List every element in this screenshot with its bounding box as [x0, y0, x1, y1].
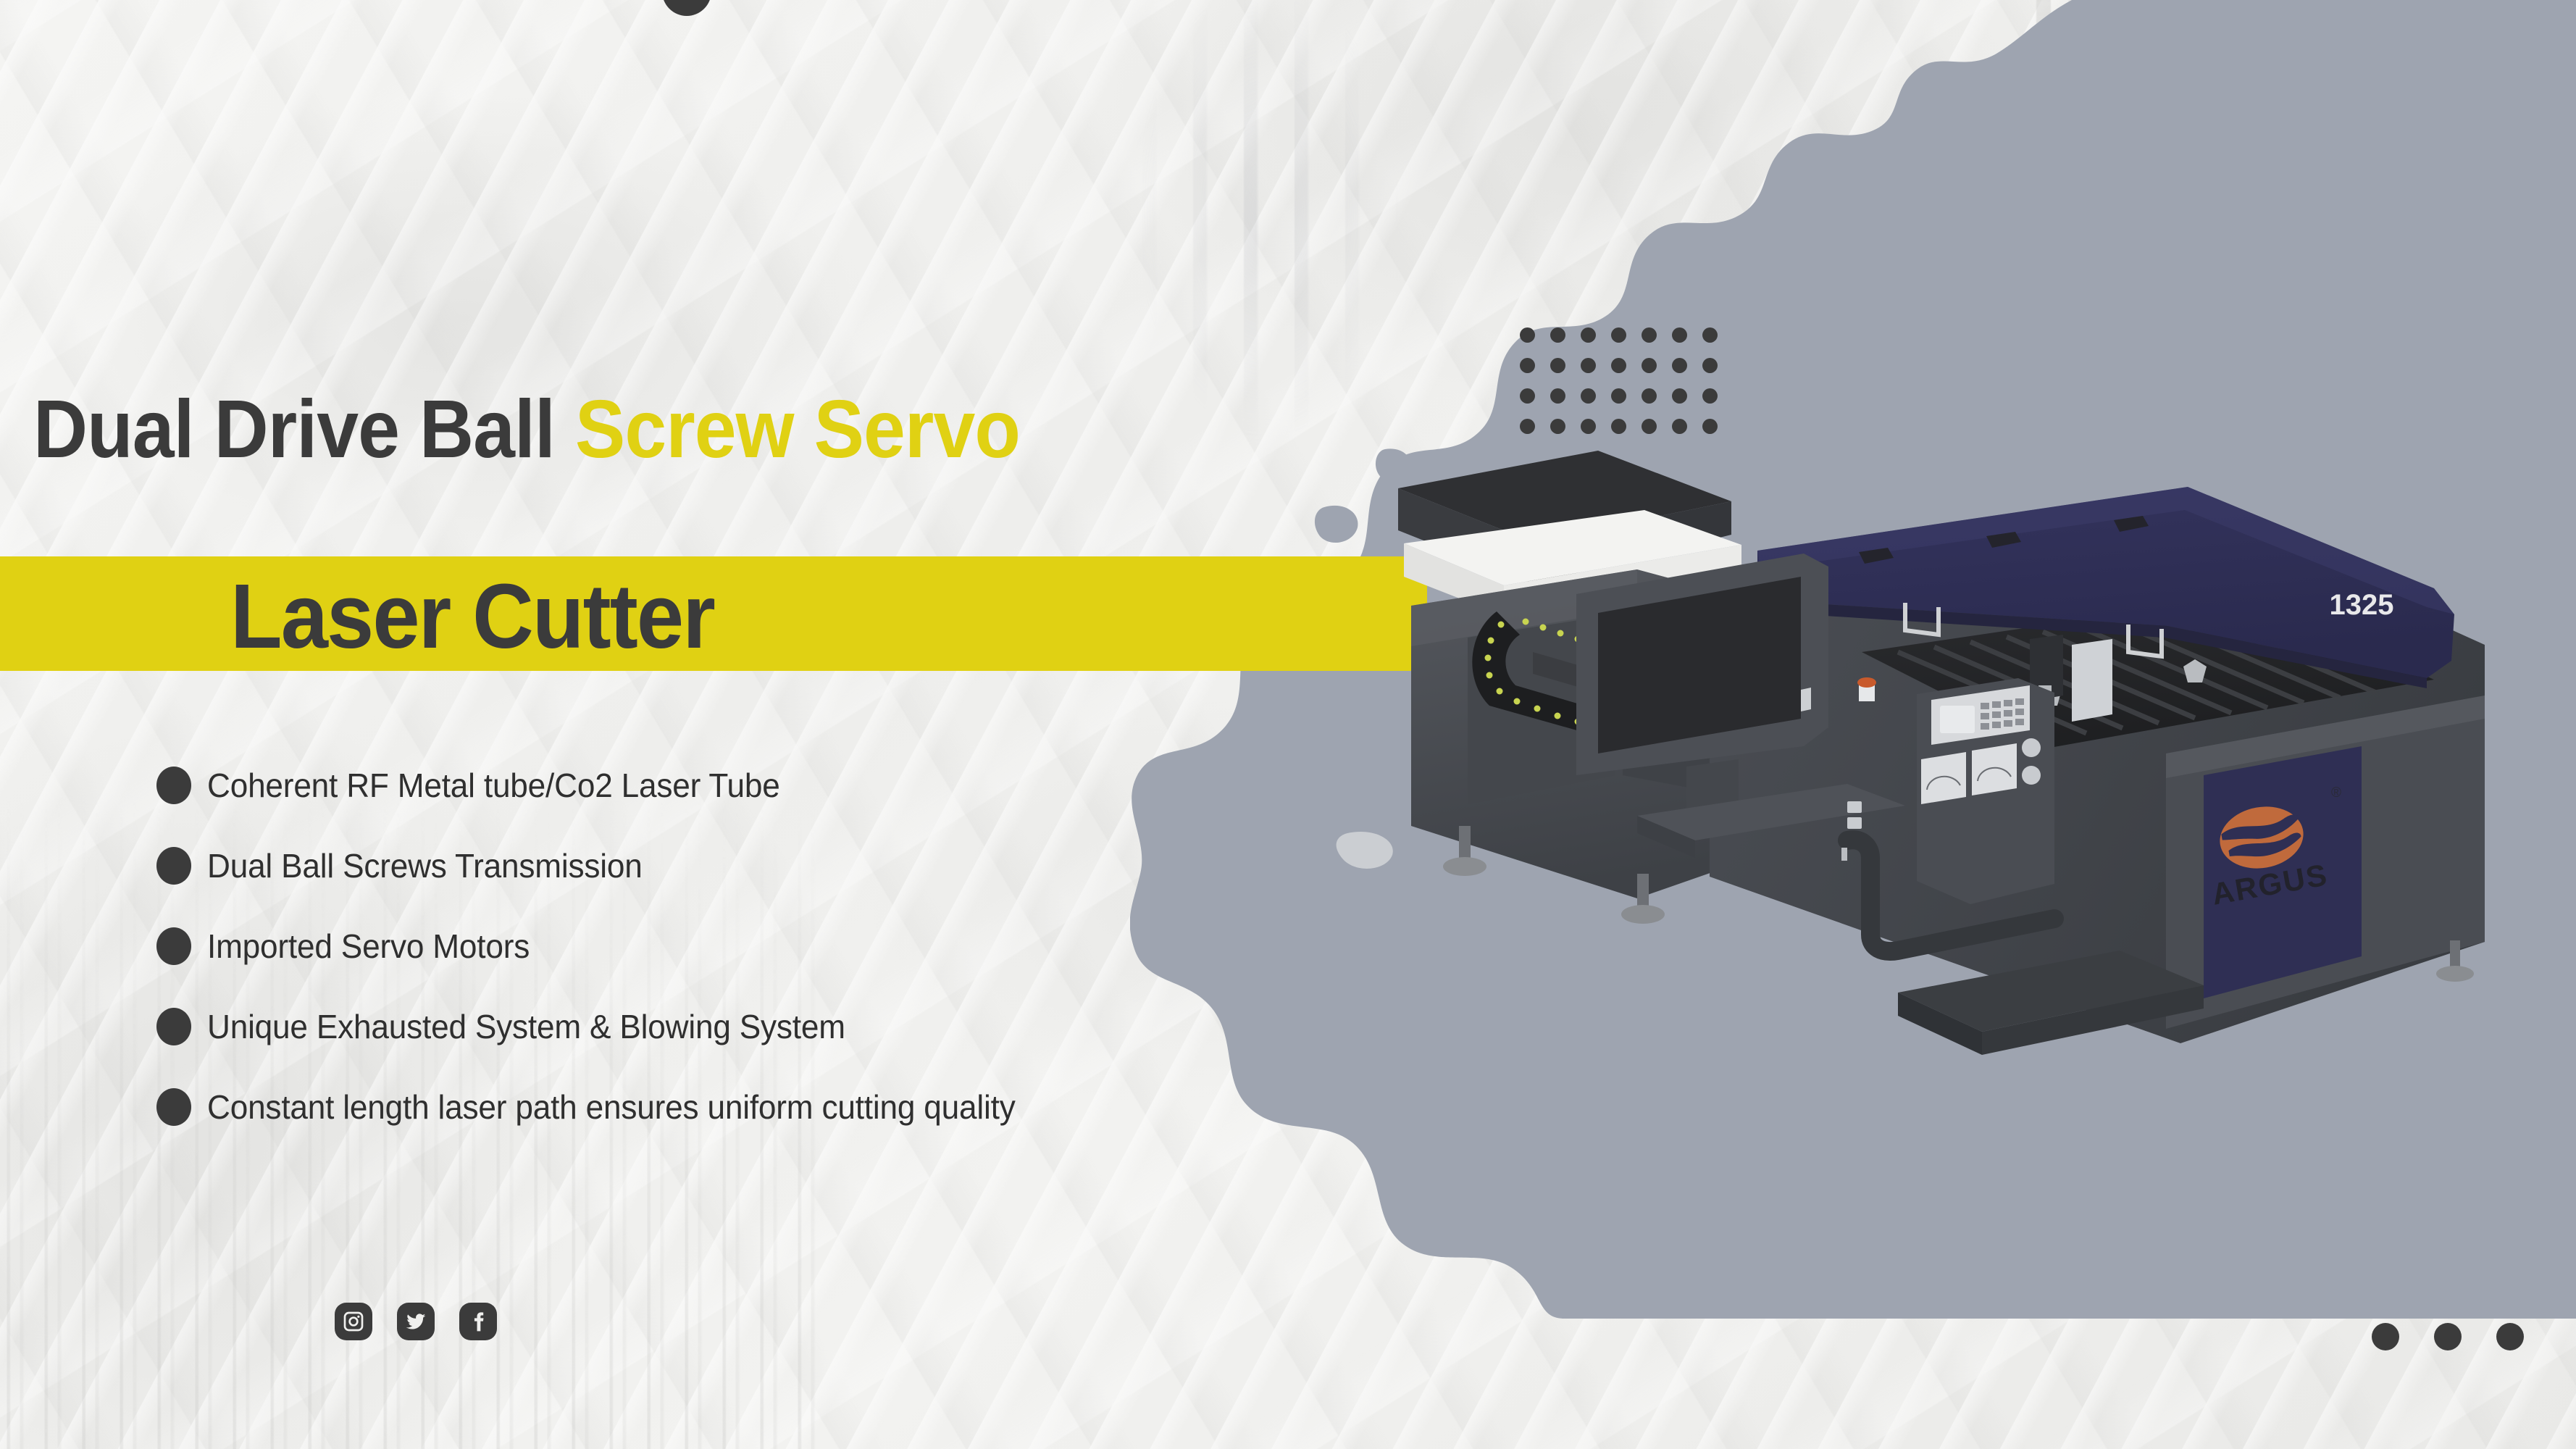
- svg-text:1325: 1325: [2330, 589, 2394, 621]
- grid-dot: [1702, 388, 1718, 404]
- grid-dot: [1550, 327, 1565, 343]
- instagram-icon: [342, 1310, 365, 1333]
- grid-dot: [1672, 327, 1687, 343]
- grid-dot: [1520, 358, 1535, 373]
- grid-dot: [1702, 419, 1718, 434]
- feature-list: Coherent RF Metal tube/Co2 Laser Tube Du…: [156, 745, 1049, 1147]
- dot-grid-decoration: [1520, 327, 1733, 449]
- grid-dot: [1581, 388, 1596, 404]
- list-item: Coherent RF Metal tube/Co2 Laser Tube: [156, 745, 1049, 825]
- grid-dot: [1520, 419, 1535, 434]
- headline-product-text: Laser Cutter: [230, 571, 714, 662]
- grid-dot: [1611, 358, 1626, 373]
- facebook-icon: [467, 1310, 490, 1333]
- grid-dot: [1672, 419, 1687, 434]
- bullet-icon: [156, 1008, 191, 1045]
- feature-text: Imported Servo Motors: [207, 927, 530, 966]
- bullet-icon: [156, 847, 191, 885]
- headline-line-two: Laser Cutter: [0, 559, 1427, 674]
- feature-text: Unique Exhausted System & Blowing System: [207, 1007, 845, 1046]
- grid-dot: [1520, 327, 1535, 343]
- headline-accent-text: Screw Servo: [575, 383, 1020, 475]
- grid-dot: [1642, 327, 1657, 343]
- feature-text: Constant length laser path ensures unifo…: [207, 1087, 1016, 1127]
- list-item: Constant length laser path ensures unifo…: [156, 1066, 1049, 1147]
- twitter-icon: [404, 1310, 427, 1333]
- grid-dot: [1550, 358, 1565, 373]
- bullet-icon: [156, 1088, 191, 1126]
- social-links: [335, 1303, 497, 1340]
- bullet-icon: [156, 767, 191, 804]
- grid-dot: [1702, 358, 1718, 373]
- social-link-twitter[interactable]: [397, 1303, 435, 1340]
- carousel-dot[interactable]: [2434, 1323, 2462, 1350]
- grid-dot: [1642, 388, 1657, 404]
- grid-dot: [1611, 327, 1626, 343]
- feature-text: Dual Ball Screws Transmission: [207, 846, 643, 885]
- social-link-instagram[interactable]: [335, 1303, 372, 1340]
- grid-dot: [1611, 419, 1626, 434]
- list-item: Dual Ball Screws Transmission: [156, 825, 1049, 906]
- grid-dot: [1581, 358, 1596, 373]
- grid-dot: [1581, 327, 1596, 343]
- grid-dot: [1642, 419, 1657, 434]
- carousel-dots[interactable]: [2372, 1323, 2524, 1350]
- headline-primary-text: Dual Drive Ball: [33, 383, 575, 475]
- bullet-icon: [156, 927, 191, 965]
- carousel-dot[interactable]: [2496, 1323, 2524, 1350]
- grid-dot: [1672, 388, 1687, 404]
- grid-dot: [1581, 419, 1596, 434]
- grid-dot: [1520, 388, 1535, 404]
- list-item: Imported Servo Motors: [156, 906, 1049, 986]
- promo-banner: 1325: [0, 0, 2576, 1449]
- grid-dot: [1702, 327, 1718, 343]
- list-item: Unique Exhausted System & Blowing System: [156, 986, 1049, 1066]
- laser-cutter-machine-image: 1325: [1398, 435, 2528, 1174]
- feature-text: Coherent RF Metal tube/Co2 Laser Tube: [207, 766, 780, 805]
- carousel-dot[interactable]: [2372, 1323, 2399, 1350]
- grid-dot: [1642, 358, 1657, 373]
- social-link-facebook[interactable]: [459, 1303, 497, 1340]
- grid-dot: [1550, 388, 1565, 404]
- svg-text:®: ®: [2331, 785, 2341, 801]
- headline-line-one: Dual Drive Ball Screw Servo: [33, 388, 1105, 470]
- grid-dot: [1611, 388, 1626, 404]
- grid-dot: [1672, 358, 1687, 373]
- grid-dot: [1550, 419, 1565, 434]
